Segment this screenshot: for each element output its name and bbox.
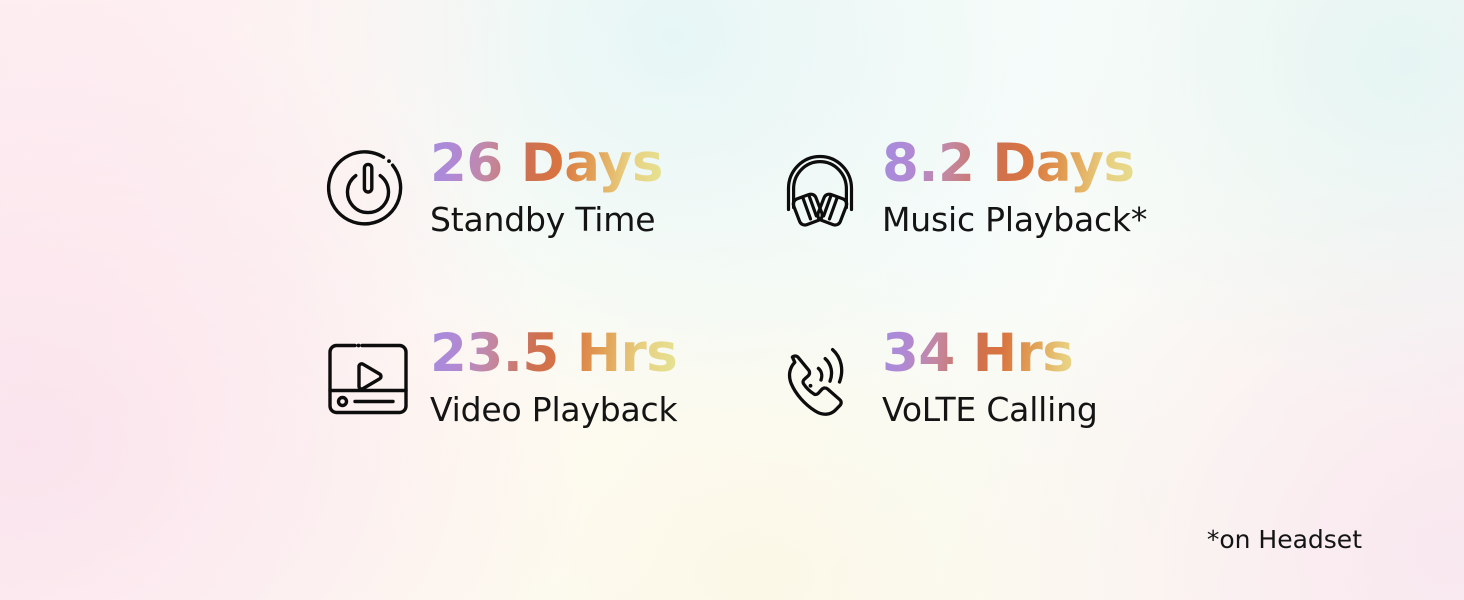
stat-cell-video-playback: 23.5 Hrs Video Playback [322, 322, 774, 512]
stat-cell-music-playback: 8.2 Days Music Playback* [774, 132, 1222, 322]
headphones-icon [774, 132, 866, 232]
stat-cell-volte-calling: 34 Hrs VoLTE Calling [774, 322, 1222, 512]
stat-text-music-playback: 8.2 Days Music Playback* [882, 132, 1147, 242]
stat-text-volte-calling: 34 Hrs VoLTE Calling [882, 322, 1098, 432]
stat-label: Music Playback* [882, 198, 1147, 242]
stat-label: Video Playback [430, 388, 677, 432]
stats-grid: 26 Days Standby Time 8.2 Days [322, 132, 1222, 512]
stat-value: 23.5 Hrs [430, 324, 677, 384]
stat-value: 26 Days [430, 134, 663, 194]
footnote: *on Headset [1207, 524, 1362, 556]
phone-call-icon [774, 322, 866, 422]
stat-value: 8.2 Days [882, 134, 1147, 194]
stat-text-video-playback: 23.5 Hrs Video Playback [430, 322, 677, 432]
stat-cell-standby-time: 26 Days Standby Time [322, 132, 774, 322]
power-icon [322, 132, 414, 232]
stat-label: Standby Time [430, 198, 663, 242]
stat-value: 34 Hrs [882, 324, 1098, 384]
video-player-icon [322, 322, 414, 422]
stat-label: VoLTE Calling [882, 388, 1098, 432]
feature-banner: 26 Days Standby Time 8.2 Days [0, 0, 1464, 600]
stat-text-standby-time: 26 Days Standby Time [430, 132, 663, 242]
